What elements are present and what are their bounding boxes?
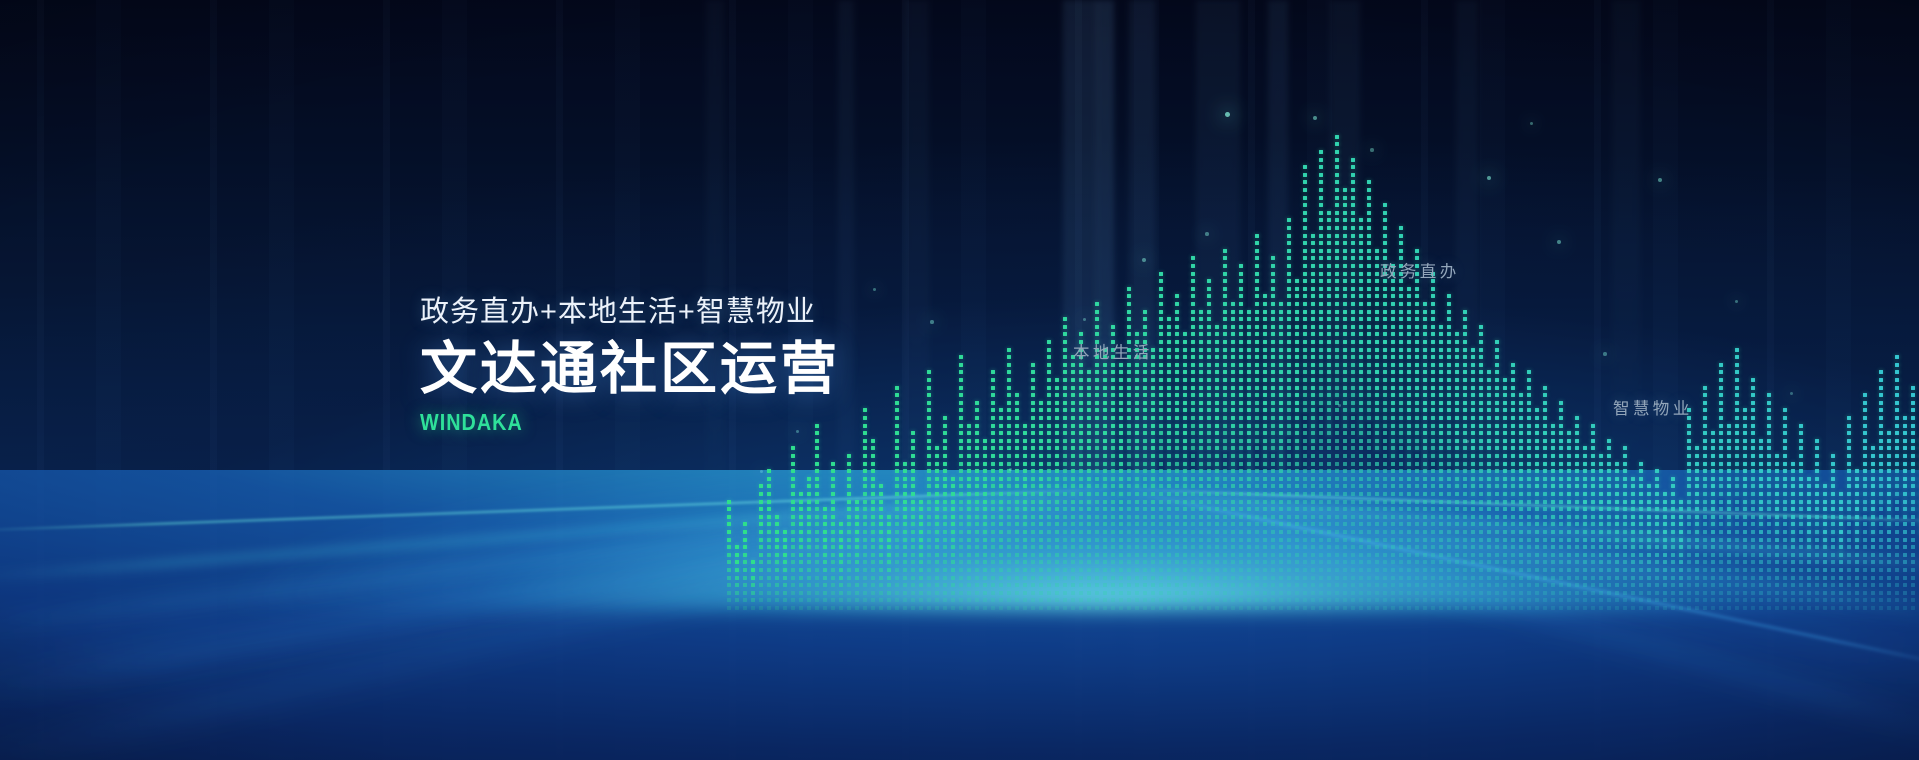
city-label: 政务直办 xyxy=(1380,258,1460,282)
city-labels: 政务直办本地生活智慧物业 xyxy=(0,0,1919,760)
hero-banner: 政务直办本地生活智慧物业 政务直办+本地生活+智慧物业 文达通社区运营 WIND… xyxy=(0,0,1919,760)
brand-wordmark: WINDAKA xyxy=(420,409,781,436)
hero-copy: 政务直办+本地生活+智慧物业 文达通社区运营 WINDAKA xyxy=(420,288,840,436)
hero-title: 文达通社区运营 xyxy=(420,338,840,402)
city-label: 本地生活 xyxy=(1073,339,1153,363)
hero-subtitle: 政务直办+本地生活+智慧物业 xyxy=(420,288,840,330)
city-label: 智慧物业 xyxy=(1613,395,1693,419)
